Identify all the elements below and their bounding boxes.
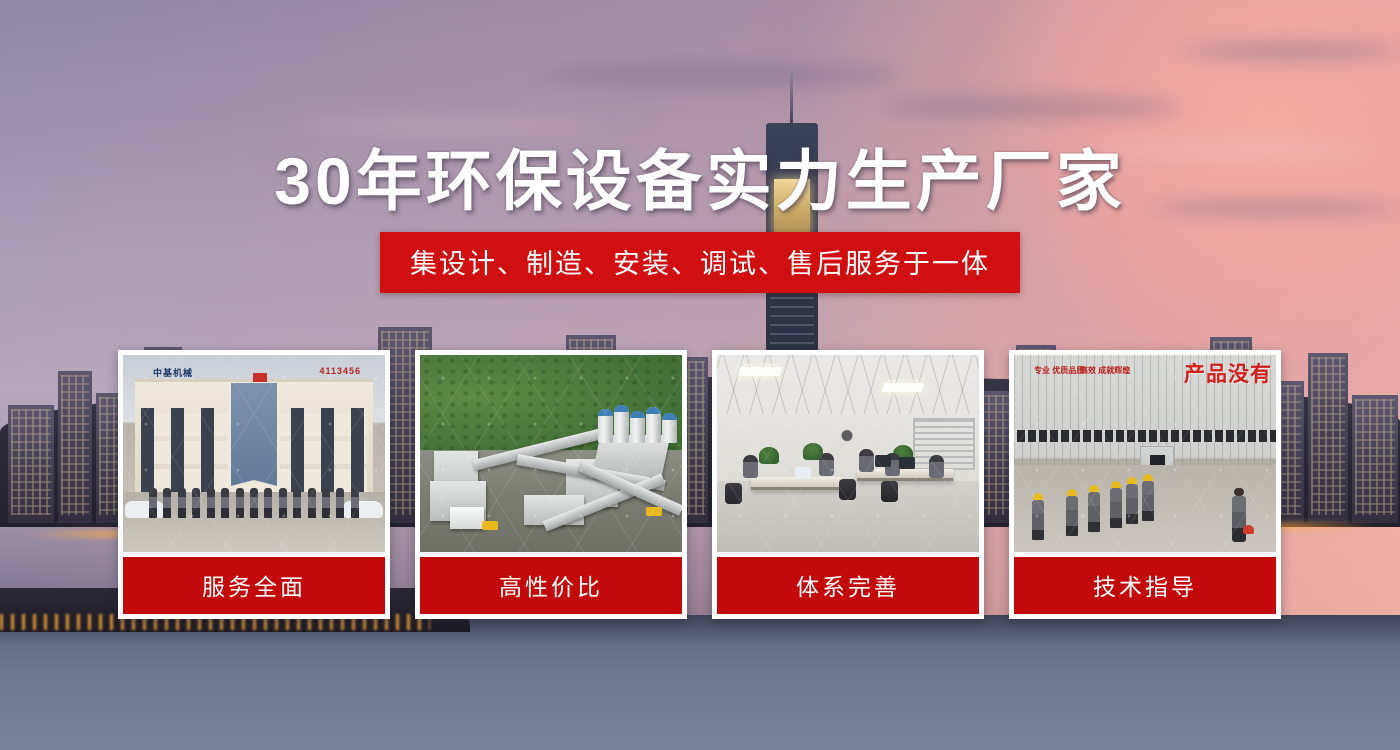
chair: [839, 479, 856, 500]
feature-card[interactable]: 高性价比: [415, 350, 687, 619]
worker: [1088, 492, 1100, 532]
office-interior-photo: [717, 355, 979, 552]
person: [743, 455, 758, 478]
storage-silo: [598, 409, 613, 443]
storage-silo: [614, 405, 629, 443]
technical-training-photo: 产品没有 专业 优质品质 高效 成就辉煌: [1014, 355, 1276, 552]
storage-silo: [630, 411, 645, 443]
factory-slogan-text: 专业 优质品质: [1034, 366, 1084, 375]
building: [8, 405, 54, 523]
cloud-shape: [1180, 42, 1400, 60]
promo-banner: 30年环保设备实力生产厂家 集设计、制造、安装、调试、售后服务于一体 中基机械 …: [0, 0, 1400, 750]
worker: [1142, 481, 1154, 521]
worker: [1032, 500, 1044, 540]
person: [859, 449, 874, 472]
window-blinds: [913, 418, 975, 470]
person: [929, 455, 944, 478]
wall-decal: [832, 426, 862, 450]
factory-slogan-text: 高效 成就辉煌: [1080, 366, 1130, 375]
card-caption: 体系完善: [717, 557, 979, 614]
worker: [1110, 488, 1122, 528]
storage-silo: [662, 413, 677, 443]
tower-spire: [790, 67, 793, 125]
ceiling-panels: [717, 355, 979, 414]
card-caption: 技术指导: [1014, 557, 1276, 614]
feature-card[interactable]: 体系完善: [712, 350, 984, 619]
flag-icon: [253, 373, 267, 382]
staff-lineup: [149, 488, 359, 518]
ceiling-light: [738, 367, 783, 376]
worker: [1066, 496, 1078, 536]
building-sign-text: 中基机械: [153, 366, 193, 379]
ceiling-light: [882, 383, 925, 392]
card-caption: 服务全面: [123, 557, 385, 614]
person: [819, 453, 834, 476]
feature-card-list: 中基机械 4113456 服务全面: [118, 350, 1281, 619]
excavator: [482, 521, 498, 530]
page-title: 30年环保设备实力生产厂家: [0, 128, 1400, 224]
cloud-shape: [540, 62, 900, 88]
monitor: [899, 457, 915, 469]
potted-plant: [759, 447, 779, 464]
red-helmet: [1243, 525, 1254, 534]
feature-card[interactable]: 中基机械 4113456 服务全面: [118, 350, 390, 619]
building: [58, 371, 92, 523]
building: [1308, 353, 1348, 523]
storage-silo: [646, 407, 661, 443]
chair: [725, 483, 742, 504]
cloud-shape: [880, 96, 1180, 118]
excavator: [646, 507, 662, 516]
laptop: [795, 467, 811, 479]
factory-window-strip: [1014, 430, 1276, 442]
subtitle-bar: 集设计、制造、安装、调试、售后服务于一体: [380, 232, 1020, 293]
card-caption: 高性价比: [420, 557, 682, 614]
building-phone-text: 4113456: [319, 366, 361, 376]
river-water: [0, 615, 1400, 750]
company-headquarters-photo: 中基机械 4113456: [123, 355, 385, 552]
plant-building: [450, 507, 484, 529]
feature-card[interactable]: 产品没有 专业 优质品质 高效 成就辉煌 技术指导: [1009, 350, 1281, 619]
building: [1352, 395, 1398, 523]
worker: [1126, 484, 1138, 524]
production-plant-aerial-photo: [420, 355, 682, 552]
supervisor: [1232, 496, 1246, 542]
monitor: [875, 455, 891, 467]
factory-sign-text: 产品没有: [1184, 358, 1272, 388]
chair: [881, 481, 898, 502]
